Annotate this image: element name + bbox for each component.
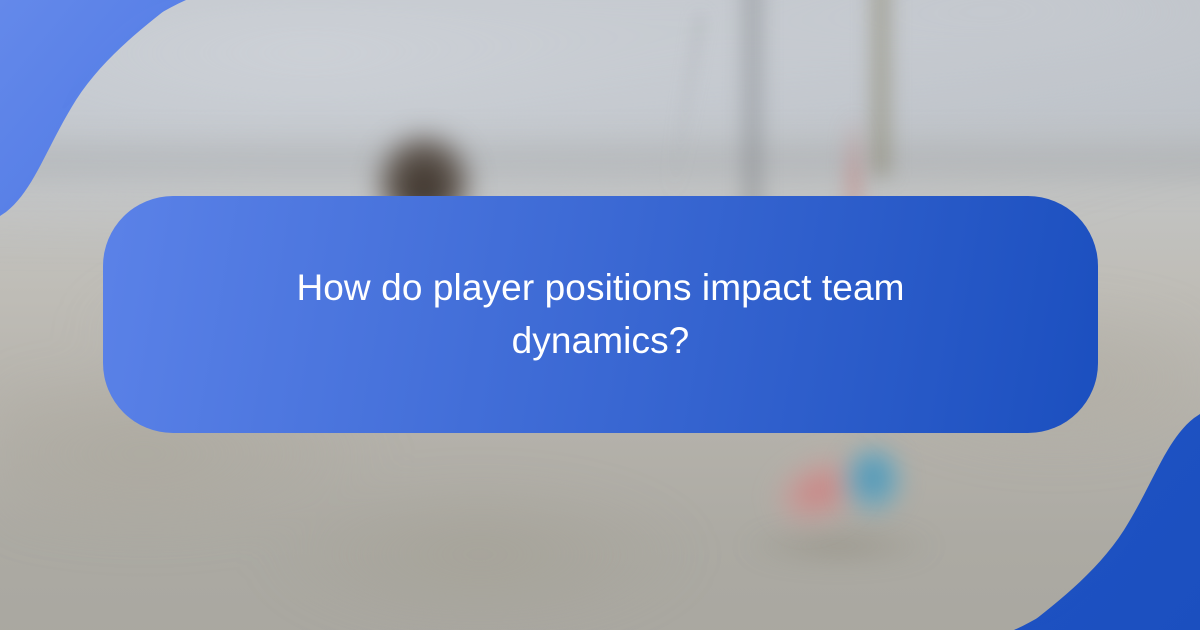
question-card[interactable]: How do player positions impact team dyna… [103, 196, 1098, 433]
equipment-shadow [744, 529, 934, 563]
social-card-canvas: How do player positions impact team dyna… [0, 0, 1200, 630]
question-title: How do player positions impact team dyna… [251, 262, 951, 367]
